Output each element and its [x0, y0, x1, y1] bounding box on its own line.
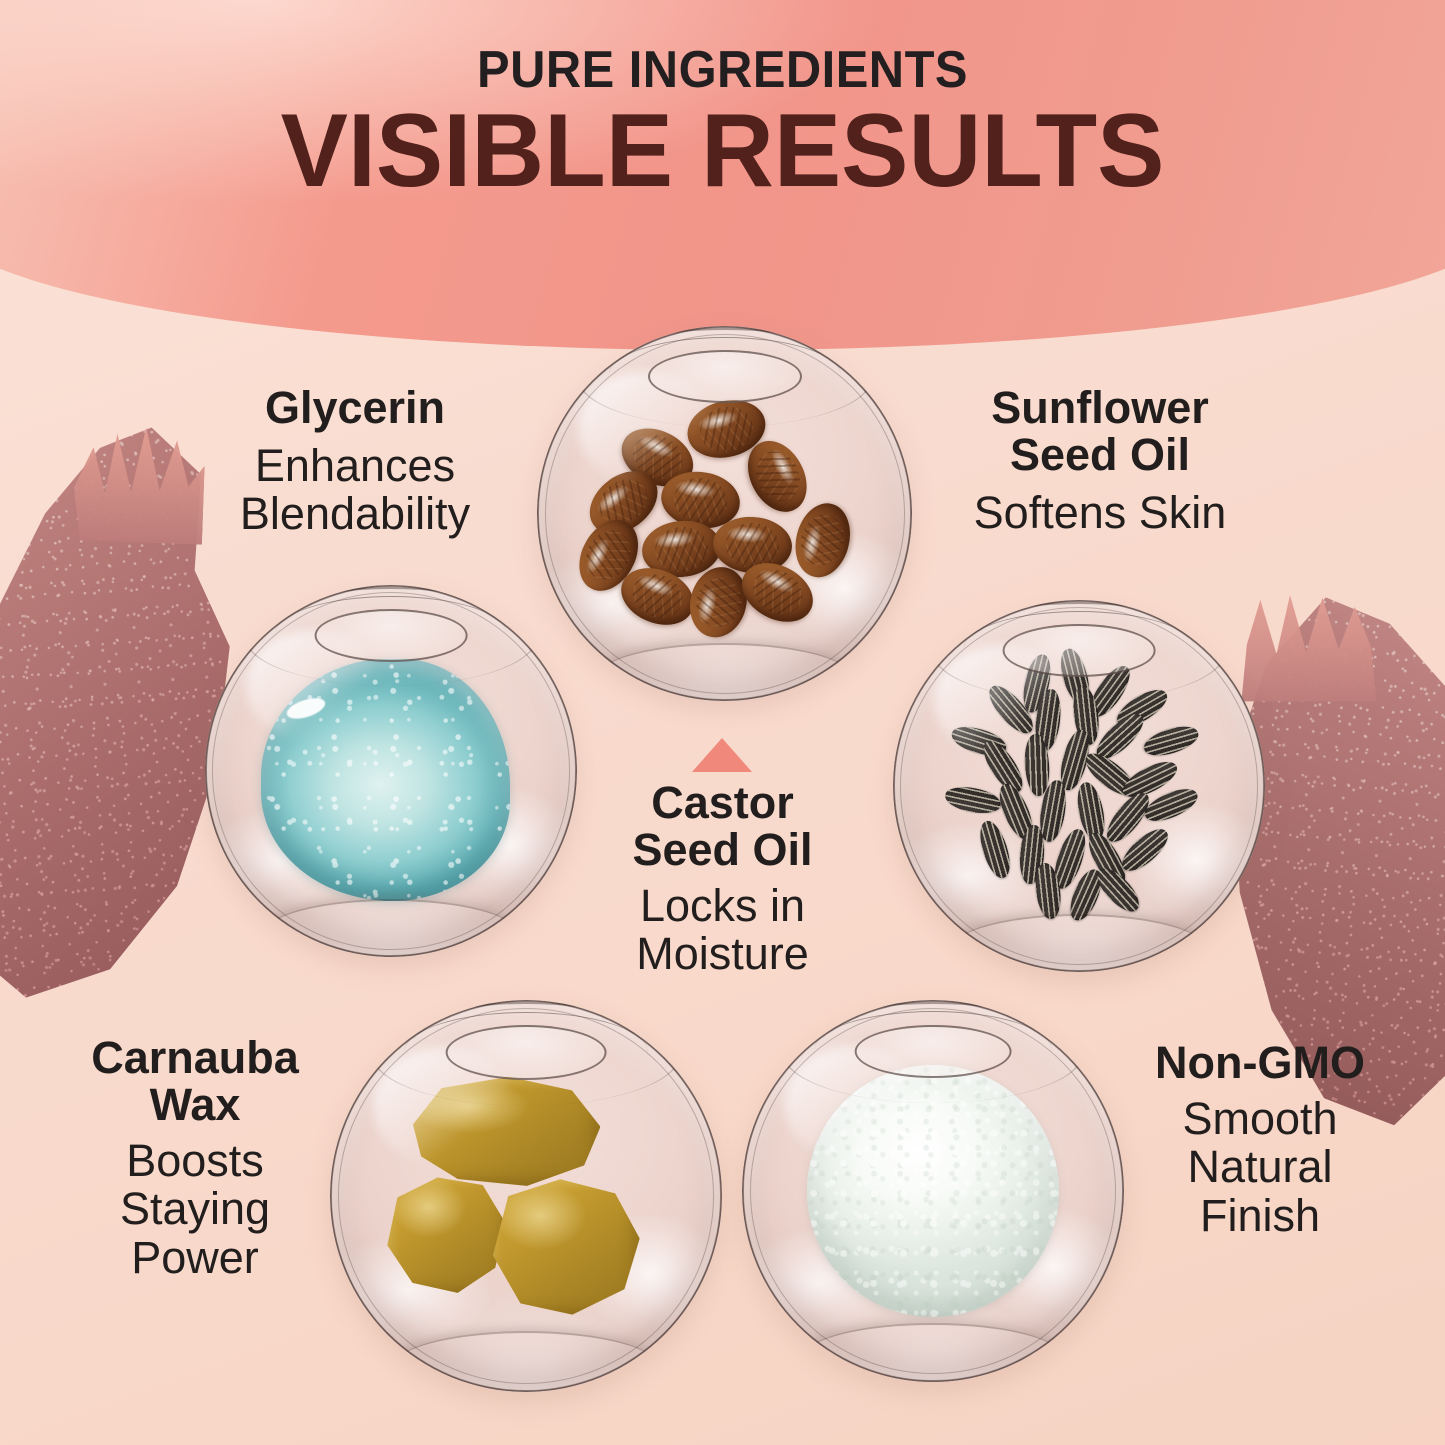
ingredient-sphere-carnauba-wax [330, 1000, 722, 1392]
wax-chunk-right [487, 1176, 640, 1317]
label-glycerin-benefit-line-2: Blendability [175, 490, 535, 539]
label-carnauba-benefit-line-3: Power [40, 1234, 350, 1283]
label-carnauba-benefit-line-1: Boosts [40, 1137, 350, 1186]
infographic-canvas: PURE INGREDIENTS VISIBLE RESULTS [0, 0, 1445, 1445]
glycerin-bubbles [261, 659, 510, 901]
headline-main: VISIBLE RESULTS [22, 99, 1424, 203]
page-title: PURE INGREDIENTS VISIBLE RESULTS [0, 44, 1445, 203]
label-non-gmo-benefit-line-1: Smooth [1110, 1095, 1410, 1144]
label-non-gmo-benefit-line-2: Natural [1110, 1143, 1410, 1192]
label-sunflower-title-line-1: Sunflower [920, 385, 1280, 432]
ingredient-sphere-non-gmo [742, 1000, 1124, 1382]
label-sunflower-title-line-2: Seed Oil [920, 432, 1280, 479]
label-castor-title-line-2: Seed Oil [565, 827, 880, 874]
glycerin-gel-blob [261, 659, 510, 901]
label-sunflower-benefit-line-1: Softens Skin [920, 489, 1280, 538]
sphere-mouth [446, 1025, 607, 1080]
sphere-mouth [855, 1025, 1012, 1079]
label-carnauba-title-line-2: Wax [40, 1082, 350, 1129]
sphere-mouth [315, 609, 468, 661]
sphere-mouth [648, 350, 802, 403]
wax-chunk-left [385, 1172, 510, 1297]
label-castor-benefit-line-1: Locks in [565, 882, 880, 931]
label-sunflower-seed-oil: Sunflower Seed Oil Softens Skin [920, 385, 1280, 537]
label-carnauba-wax: Carnauba Wax Boosts Staying Power [40, 1035, 350, 1282]
label-non-gmo-title: Non-GMO [1110, 1040, 1410, 1087]
ingredient-sphere-castor-seed-oil [537, 326, 912, 701]
label-carnauba-title-line-1: Carnauba [40, 1035, 350, 1082]
label-castor-benefit-line-2: Moisture [565, 930, 880, 979]
label-glycerin: Glycerin Enhances Blendability [175, 385, 535, 539]
ingredient-sphere-glycerin [205, 585, 577, 957]
castor-pointer-triangle-icon [692, 738, 752, 772]
label-non-gmo: Non-GMO Smooth Natural Finish [1110, 1040, 1410, 1241]
label-castor-seed-oil: Castor Seed Oil Locks in Moisture [565, 780, 880, 979]
label-castor-title-line-1: Castor [565, 780, 880, 827]
headline-kicker: PURE INGREDIENTS [43, 44, 1401, 97]
label-glycerin-benefit-line-1: Enhances [175, 442, 535, 491]
ingredient-sphere-sunflower-seed-oil [893, 600, 1265, 972]
label-glycerin-title: Glycerin [175, 385, 535, 432]
label-non-gmo-benefit-line-3: Finish [1110, 1192, 1410, 1241]
sphere-mouth [1003, 624, 1156, 676]
label-carnauba-benefit-line-2: Staying [40, 1185, 350, 1234]
